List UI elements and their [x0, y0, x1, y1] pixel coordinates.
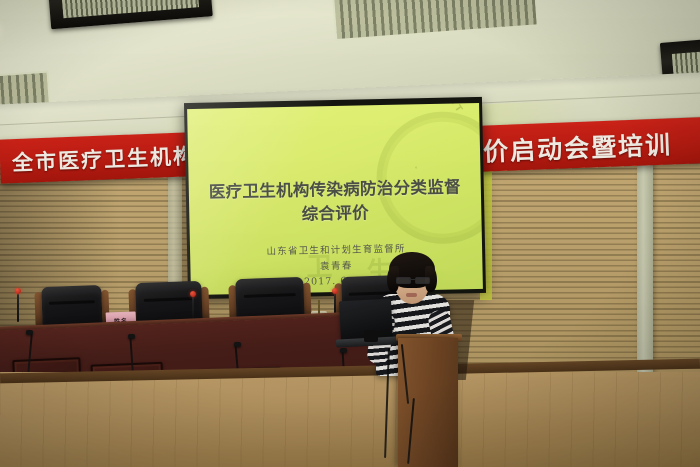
- wall-pilaster: [637, 150, 653, 375]
- ceiling-troffer-light: [330, 0, 539, 41]
- ceiling-light-fixture: [47, 0, 213, 29]
- banner-left: 全市医疗卫生机构: [0, 132, 189, 183]
- speaker-mouth: [406, 293, 417, 297]
- banner-right: 评价启动会暨培训: [451, 117, 700, 173]
- banner-left-text: 全市医疗卫生机构: [12, 140, 189, 177]
- conference-room-photo: 全市医疗卫生机构 评价启动会暨培训 SPECT 卫 生 医疗卫生机构传染病防治分…: [0, 0, 700, 467]
- banner-right-text: 评价启动会暨培训: [455, 125, 672, 169]
- floor: [0, 372, 700, 467]
- glasses-icon: [415, 277, 430, 284]
- straw-icon: [318, 300, 320, 314]
- glasses-bridge-icon: [409, 279, 415, 280]
- podium-equipment: [364, 330, 378, 342]
